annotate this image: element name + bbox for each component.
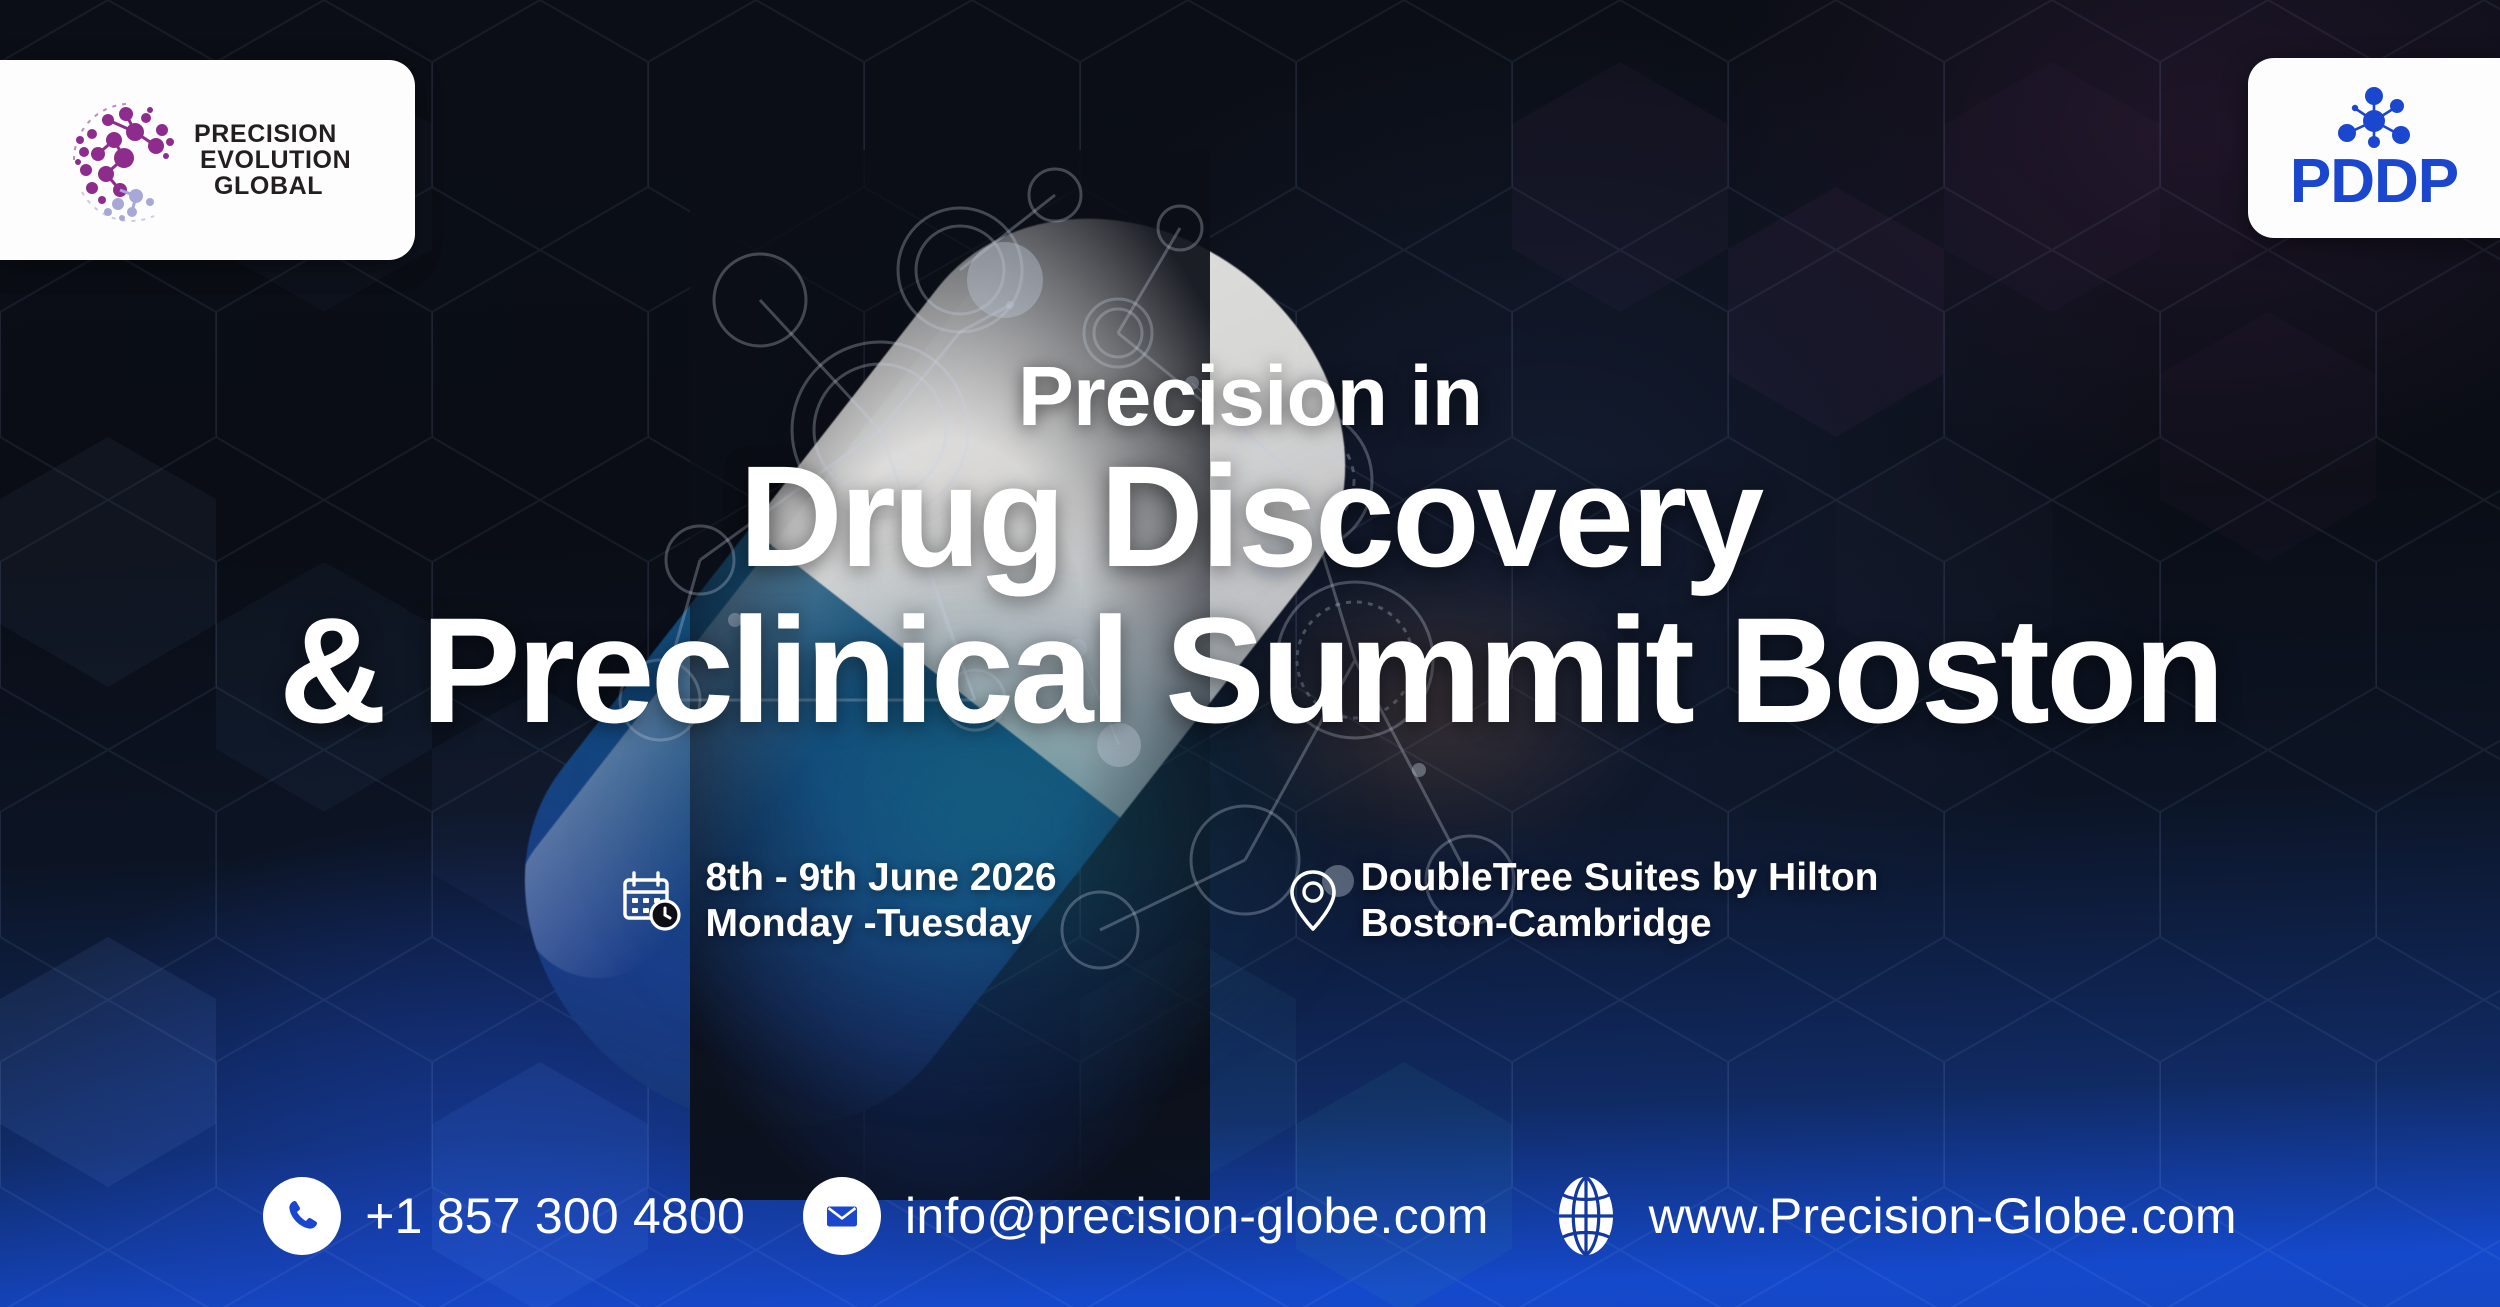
- event-date-item: 8th - 9th June 2026 Monday -Tuesday: [621, 855, 1056, 947]
- website-url: www.Precision-Globe.com: [1649, 1187, 2237, 1245]
- logo-line-3: GLOBAL: [194, 173, 351, 199]
- precision-evolution-global-logo-card: PRECISION EVOLUTION GLOBAL: [0, 60, 415, 260]
- contact-phone[interactable]: +1 857 300 4800: [263, 1177, 745, 1255]
- event-banner: PRECISION EVOLUTION GLOBAL PDDP Precisio…: [0, 0, 2500, 1307]
- logo-line-2: EVOLUTION: [194, 147, 351, 173]
- dotted-globe-network-icon: [62, 96, 190, 224]
- pddp-logo-card: PDDP: [2248, 58, 2500, 238]
- logo-line-1: PRECISION: [194, 121, 351, 147]
- event-date-text: 8th - 9th June 2026 Monday -Tuesday: [705, 855, 1056, 947]
- pddp-wordmark: PDDP: [2290, 153, 2458, 212]
- event-details-row: 8th - 9th June 2026 Monday -Tuesday Doub…: [0, 855, 2500, 947]
- contact-bar: +1 857 300 4800 info@precision-globe.com: [0, 1177, 2500, 1255]
- event-venue-line-1: DoubleTree Suites by Hilton: [1361, 855, 1879, 901]
- event-venue-line-2: Boston-Cambridge: [1361, 901, 1879, 947]
- phone-number: +1 857 300 4800: [365, 1187, 745, 1245]
- event-date-line-1: 8th - 9th June 2026: [705, 855, 1056, 901]
- event-venue-item: DoubleTree Suites by Hilton Boston-Cambr…: [1287, 855, 1879, 947]
- location-pin-icon: [1287, 867, 1339, 935]
- headline-eyebrow: Precision in: [0, 352, 2500, 441]
- calendar-clock-icon: [621, 869, 683, 933]
- headline-line-2: & Preclinical Summit Boston: [0, 592, 2500, 750]
- contact-email[interactable]: info@precision-globe.com: [803, 1177, 1489, 1255]
- globe-icon: [1547, 1177, 1625, 1255]
- contact-website[interactable]: www.Precision-Globe.com: [1547, 1177, 2237, 1255]
- event-date-line-2: Monday -Tuesday: [705, 901, 1056, 947]
- envelope-icon: [803, 1177, 881, 1255]
- event-venue-text: DoubleTree Suites by Hilton Boston-Cambr…: [1361, 855, 1879, 947]
- molecule-node-icon: [2326, 85, 2422, 157]
- headline-block: Precision in Drug Discovery & Preclinica…: [0, 352, 2500, 750]
- phone-icon: [263, 1177, 341, 1255]
- headline-line-1: Drug Discovery: [0, 441, 2500, 592]
- email-address: info@precision-globe.com: [905, 1187, 1489, 1245]
- logo-wordmark: PRECISION EVOLUTION GLOBAL: [194, 121, 351, 200]
